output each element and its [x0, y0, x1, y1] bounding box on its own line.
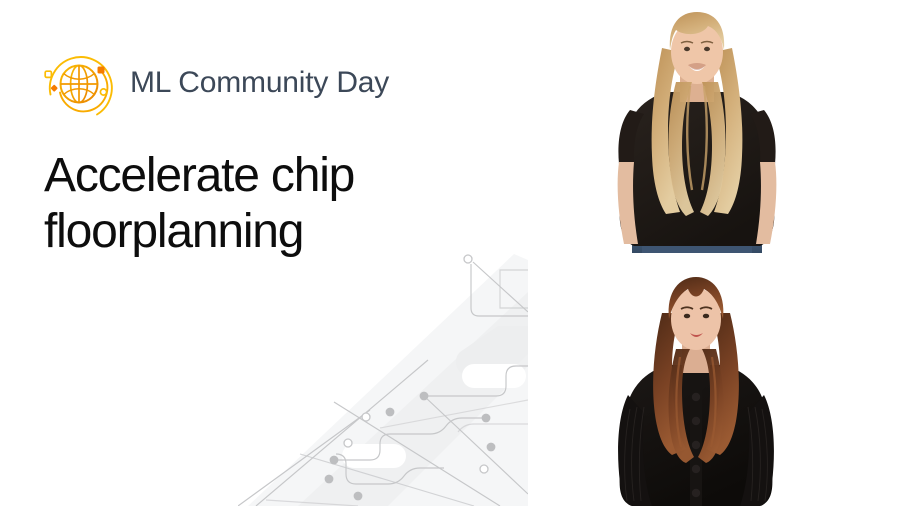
- presenter-primary-portrait: [606, 6, 788, 253]
- brand-lockup: ML Community Day: [40, 44, 389, 124]
- circuit-node-filled: [386, 408, 395, 417]
- brand-wordmark: ML Community Day: [130, 68, 389, 100]
- circuit-node-filled: [330, 456, 339, 465]
- circuit-node-filled: [420, 392, 429, 401]
- circuit-node-filled: [354, 492, 363, 501]
- page-title-line-1: Accelerate chip: [44, 148, 564, 204]
- presenter-video-tile-primary[interactable]: [600, 0, 900, 253]
- page-title: Accelerate chip floorplanning: [44, 148, 564, 259]
- circuit-node-filled: [487, 443, 496, 452]
- circuit-trace-graphic: [238, 248, 528, 506]
- circuit-node-hollow: [362, 413, 370, 421]
- circuit-band-shapes: [248, 254, 528, 506]
- circuit-nodes: [248, 255, 496, 506]
- presenter-primary-stage: [600, 0, 900, 253]
- circuit-node-hollow: [480, 465, 488, 473]
- slide-root: ML Community Day Accelerate chip floorpl…: [0, 0, 900, 506]
- page-title-line-2: floorplanning: [44, 204, 564, 260]
- presenter-secondary-portrait: [610, 269, 782, 506]
- circuit-node-hollow: [344, 439, 352, 447]
- circuit-node-filled: [325, 475, 334, 484]
- circuit-traces: [238, 262, 528, 506]
- circuit-node-filled: [482, 414, 491, 423]
- presenter-secondary-stage: [600, 253, 900, 506]
- presenter-video-tile-secondary[interactable]: [600, 253, 900, 506]
- globe-orbit-icon: [40, 45, 118, 123]
- content-panel: ML Community Day Accelerate chip floorpl…: [0, 0, 600, 506]
- presenter-video-rail: [600, 0, 900, 506]
